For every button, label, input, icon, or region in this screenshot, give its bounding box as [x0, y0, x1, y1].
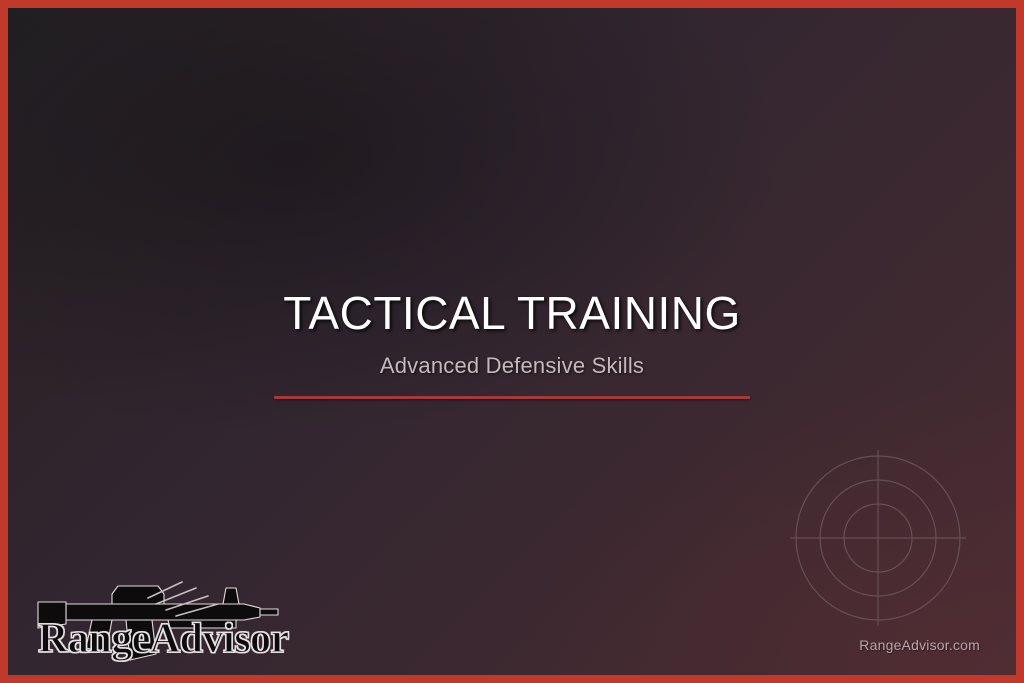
rangeadvisor-logo: RangeAdvisor	[30, 568, 282, 673]
title-block: TACTICAL TRAINING Advanced Defensive Ski…	[8, 290, 1016, 399]
page-title: TACTICAL TRAINING	[8, 290, 1016, 336]
title-divider	[274, 396, 750, 399]
website-url: RangeAdvisor.com	[859, 637, 980, 653]
rifle-silhouette-icon	[30, 568, 282, 673]
page-subtitle: Advanced Defensive Skills	[8, 355, 1016, 377]
target-reticle-icon	[790, 450, 966, 626]
presentation-slide: TACTICAL TRAINING Advanced Defensive Ski…	[0, 0, 1024, 683]
slide-canvas: TACTICAL TRAINING Advanced Defensive Ski…	[8, 8, 1016, 675]
